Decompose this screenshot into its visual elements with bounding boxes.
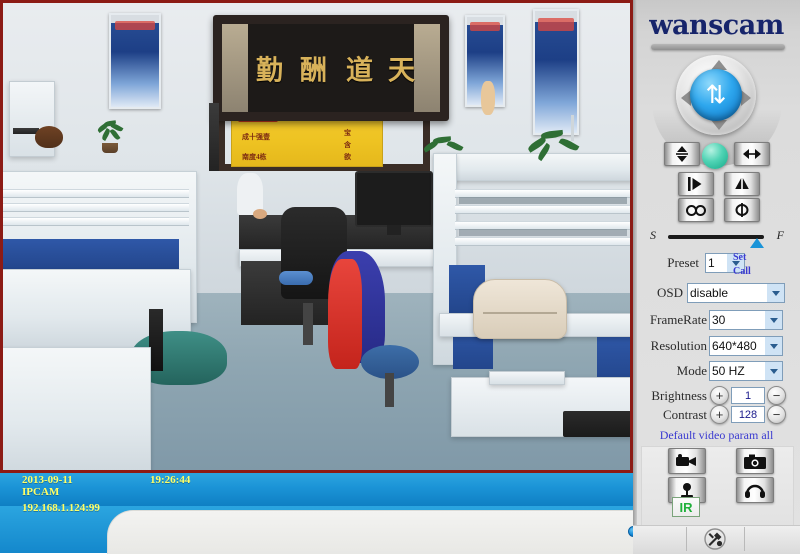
framerate-label: FrameRate <box>641 312 707 328</box>
overlay-time: 19:26:44 <box>150 474 190 486</box>
speed-fast-label: F <box>777 228 784 243</box>
resolution-select[interactable]: 640*480 <box>709 336 783 356</box>
speed-slow-label: S <box>650 228 656 243</box>
arrow-right-icon[interactable] <box>741 90 751 106</box>
preset-call-link[interactable]: Call <box>733 266 751 278</box>
foreground-partition <box>3 347 151 470</box>
cubicle-slat <box>3 203 189 212</box>
framerate-row: FrameRate 30 <box>641 310 783 330</box>
preset-label: Preset <box>655 255 699 271</box>
speed-slider[interactable]: S F <box>650 228 784 248</box>
brightness-decrease-button[interactable]: − <box>767 386 786 405</box>
brightness-row: Brightness + − <box>645 386 786 405</box>
cubicle-blue-panel <box>3 239 179 269</box>
horizontal-patrol-button[interactable] <box>734 142 770 166</box>
record-button[interactable] <box>668 448 706 474</box>
office-chair-post <box>303 303 313 345</box>
antenna <box>571 115 574 141</box>
contrast-label: Contrast <box>650 407 707 423</box>
ipcam-viewer-app: 资料 成十强壹 宝 含 欲 南度4栋 勤 酬 道 天 <box>0 0 800 553</box>
wall-column <box>209 103 219 171</box>
mode-row: Mode 50 HZ <box>641 361 783 381</box>
poster-figure <box>481 81 495 115</box>
person-hand <box>253 209 267 219</box>
overlay-device-name: IPCAM <box>22 486 59 498</box>
contrast-row: Contrast + − <box>650 405 786 424</box>
shelf-contents <box>459 197 627 204</box>
ir-led-button[interactable]: IR <box>672 497 700 517</box>
snapshot-button[interactable] <box>736 448 774 474</box>
video-stream[interactable]: 资料 成十强壹 宝 含 欲 南度4栋 勤 酬 道 天 <box>3 3 630 470</box>
cubicle-blue-panel <box>597 333 630 383</box>
video-viewport[interactable]: 资料 成十强壹 宝 含 欲 南度4栋 勤 酬 道 天 <box>0 0 633 473</box>
arrow-down-icon[interactable] <box>711 120 727 130</box>
mode-select[interactable]: 50 HZ <box>709 361 783 381</box>
office-chair-arm <box>279 271 313 285</box>
handbag <box>473 279 567 339</box>
osd-label: OSD <box>641 285 683 301</box>
io-loop-button[interactable] <box>678 198 714 222</box>
resolution-row: Resolution 640*480 <box>641 336 783 356</box>
audio-button[interactable] <box>736 477 774 503</box>
preset-set-link[interactable]: Set <box>733 252 751 264</box>
overlay-date: 2013-09-11 <box>22 474 73 486</box>
cubicle-slat <box>3 217 189 226</box>
overlay-address: 192.168.1.124:99 <box>22 502 100 514</box>
plant-pot <box>102 143 118 153</box>
brightness-value-input[interactable] <box>731 387 765 404</box>
cubicle-slat <box>455 205 630 214</box>
osd-row: OSD disable <box>641 283 785 303</box>
horizontal-cruise-button[interactable] <box>678 172 714 196</box>
resolution-label: Resolution <box>641 338 707 354</box>
desk-object-bowl <box>35 126 63 148</box>
cubicle-slat <box>3 189 189 198</box>
partition-plant-right <box>527 129 585 159</box>
framerate-select[interactable]: 30 <box>709 310 783 330</box>
osd-select[interactable]: disable <box>687 283 785 303</box>
shelf-contents <box>459 229 627 236</box>
partition-plant-left <box>423 135 467 157</box>
refresh-icon[interactable]: ⇅ <box>690 69 742 121</box>
contrast-increase-button[interactable]: + <box>710 405 729 424</box>
cubicle-slat <box>455 237 630 246</box>
mode-label: Mode <box>641 363 707 379</box>
keyboard <box>563 411 630 437</box>
contrast-value-input[interactable] <box>731 406 765 423</box>
papers <box>489 371 565 385</box>
preset-actions: Set Call <box>733 252 751 278</box>
wall-poster-left <box>109 13 161 109</box>
office-chair-post <box>385 373 394 407</box>
tools-separator-right <box>744 527 745 551</box>
tools-button[interactable] <box>702 527 728 551</box>
default-video-param-link[interactable]: Default video param all <box>633 428 800 443</box>
ptz-direction-pad[interactable]: ⇅ <box>676 55 756 135</box>
calligraphy-plaque: 勤 酬 道 天 <box>213 15 449 121</box>
brightness-label: Brightness <box>645 388 707 404</box>
center-button[interactable] <box>724 198 760 222</box>
vertical-patrol-button[interactable] <box>664 142 700 166</box>
stop-indicator[interactable] <box>702 143 728 169</box>
preset-row: Preset 1 <box>655 253 745 273</box>
contrast-decrease-button[interactable]: − <box>767 405 786 424</box>
draped-jacket-red <box>328 259 362 369</box>
speed-slider-handle[interactable] <box>750 238 764 248</box>
vertical-cruise-button[interactable] <box>724 172 760 196</box>
brand-logo: wanscam <box>633 10 800 41</box>
bottom-panel <box>107 510 634 554</box>
computer-monitor <box>355 171 433 227</box>
tools-separator-left <box>686 527 687 551</box>
brightness-increase-button[interactable]: + <box>710 386 729 405</box>
foreground-pillar <box>149 309 163 371</box>
